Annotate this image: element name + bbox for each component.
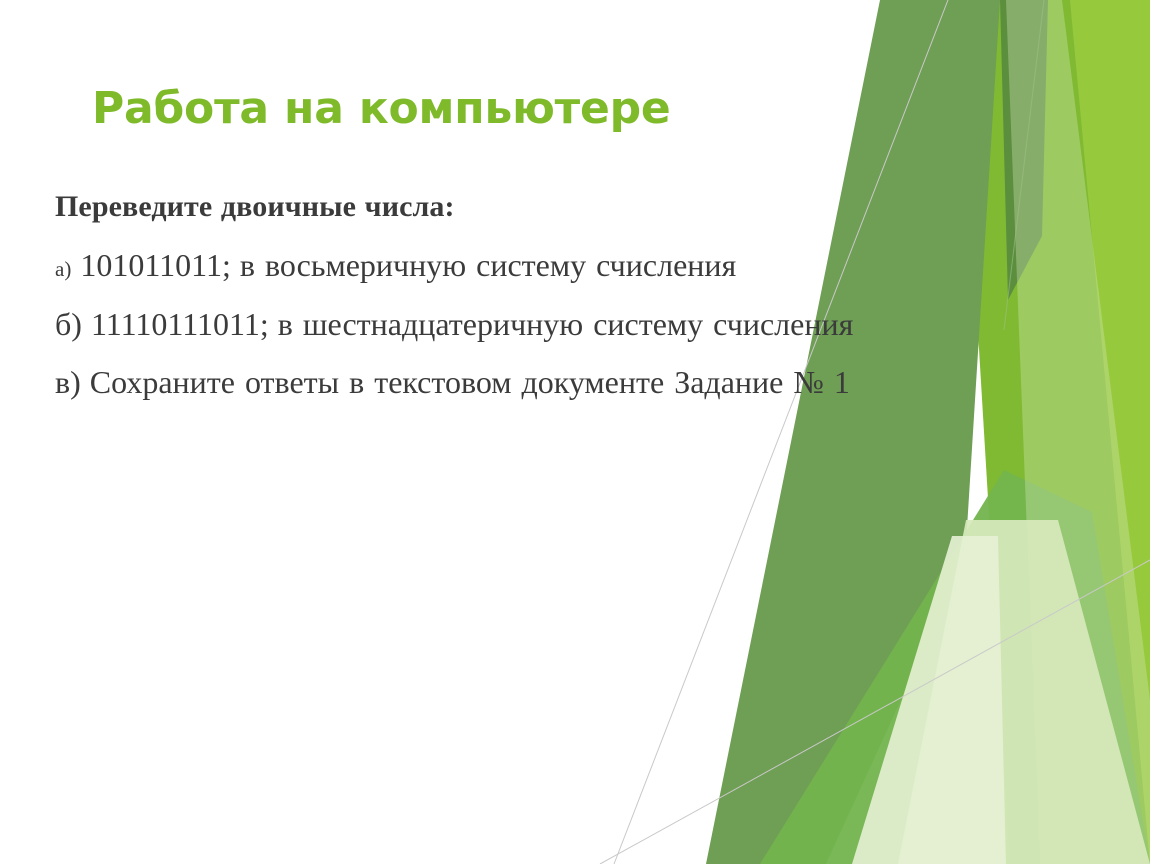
list-item-c: в)Сохраните ответы в текстовом документе… — [55, 360, 985, 404]
item-value-a: 101011011; — [80, 247, 231, 283]
item-marker-b: б) — [55, 306, 82, 342]
item-marker-a: а) — [55, 257, 71, 281]
item-value-b: 11110111011; — [91, 306, 269, 342]
hairline-diagonal-shallow — [600, 560, 1150, 864]
shard-dark-green — [1000, 0, 1048, 300]
page-title: Работа на компьютере — [92, 86, 792, 132]
list-item-a: а)101011011;в восьмеричную систему счисл… — [55, 243, 985, 287]
presentation-slide: Работа на компьютере Переведите двоичные… — [0, 0, 1150, 864]
item-instruction-b: в шестнадцатеричную систему счисления — [278, 306, 854, 342]
lead-instruction: Переведите двоичные числа: — [55, 186, 985, 227]
item-marker-c: в) — [55, 364, 81, 400]
item-instruction-a: в восьмеричную систему счисления — [240, 247, 736, 283]
shard-mid-green — [958, 0, 1150, 864]
shard-bright-right — [1036, 0, 1150, 864]
content-placeholder: Переведите двоичные числа: а)101011011;в… — [55, 186, 985, 418]
shard-pale-green — [898, 520, 1150, 864]
list-item-b: б)11110111011;в шестнадцатеричную систем… — [55, 302, 985, 346]
shard-very-pale-green — [852, 536, 1006, 864]
shard-pale-overlay — [1006, 0, 1150, 864]
shard-leaf-green — [760, 470, 1150, 864]
title-placeholder: Работа на компьютере — [92, 86, 792, 132]
item-instruction-c: Сохраните ответы в текстовом документе З… — [90, 364, 850, 400]
hairline-diagonal-short — [1004, 0, 1044, 330]
